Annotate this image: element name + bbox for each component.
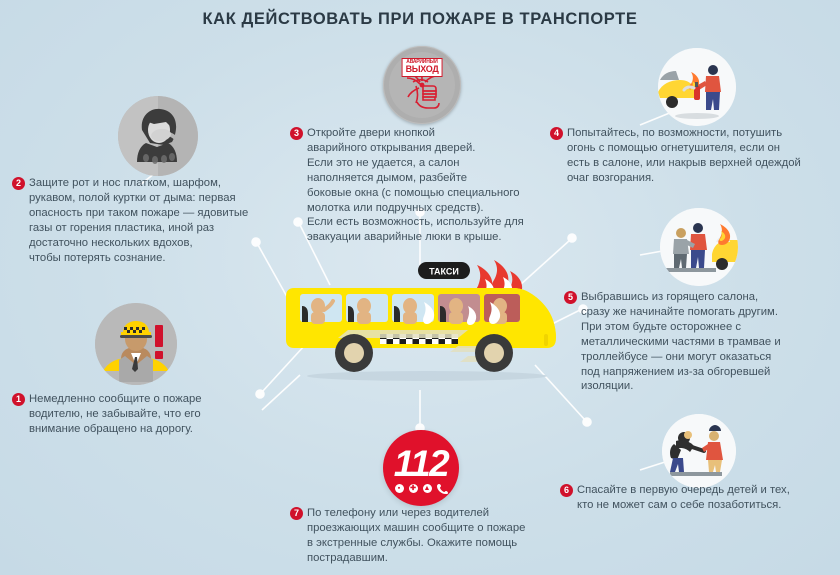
step-text-3: Откройте двери кнопкой аварийного открыв…	[307, 126, 558, 245]
step-text-1: Немедленно сообщите о пожаре водителю, н…	[29, 392, 252, 437]
step-number-5: 5	[564, 291, 577, 304]
emergency-service-icons: ▪ ✚ ▲	[395, 483, 448, 494]
step-block-2: 2 Защите рот и нос платком, шарфом, рука…	[12, 176, 262, 265]
step-block-1: 1 Немедленно сообщите о пожаре водителю,…	[12, 392, 252, 437]
step-number-4: 4	[550, 127, 563, 140]
emergency-number-value: 112	[394, 446, 449, 481]
emergency-exit-button-illustration: АВАРИЙНЫЙ ВЫХОД	[383, 46, 461, 124]
taxi-driver-warning-illustration	[95, 303, 177, 385]
infographic-poster: КАК ДЕЙСТВОВАТЬ ПРИ ПОЖАРЕ В ТРАНСПОРТЕ	[0, 0, 840, 575]
step-text-7: По телефону или через водителей проезжаю…	[307, 506, 562, 566]
rescuing-child-illustration	[662, 414, 736, 488]
burning-taxi-minibus-illustration: ТАКСИ	[282, 250, 577, 400]
helping-people-escape-illustration	[660, 208, 738, 286]
step-block-4: 4 Попытайтесь, по возможности, потушить …	[550, 126, 836, 186]
emergency-exit-label: АВАРИЙНЫЙ ВЫХОД	[402, 58, 443, 77]
step-number-1: 1	[12, 393, 25, 406]
step-block-5: 5 Выбравшись из горящего салона, сразу ж…	[564, 290, 836, 394]
step-text-6: Спасайте в первую очередь детей и тех, к…	[577, 483, 836, 513]
taxi-sign-text: ТАКСИ	[429, 267, 459, 277]
step-number-7: 7	[290, 507, 303, 520]
taxi-roof-sign: ТАКСИ	[418, 262, 470, 279]
woman-covering-mouth-illustration	[118, 96, 198, 176]
step-number-6: 6	[560, 484, 573, 497]
step-block-7: 7 По телефону или через водителей проезж…	[290, 506, 562, 566]
fire-icon: ▲	[423, 484, 432, 493]
step-number-2: 2	[12, 177, 25, 190]
step-text-2: Защите рот и нос платком, шарфом, рукаво…	[29, 176, 262, 265]
step-text-4: Попытайтесь, по возможности, потушить ог…	[567, 126, 836, 186]
step-number-3: 3	[290, 127, 303, 140]
police-icon: ▪	[395, 484, 404, 493]
fire-extinguisher-car-illustration	[658, 48, 736, 126]
medical-icon: ✚	[409, 484, 418, 493]
step-block-3: 3 Откройте двери кнопкой аварийного откр…	[290, 126, 558, 245]
step-block-6: 6 Спасайте в первую очередь детей и тех,…	[560, 483, 836, 513]
step-text-5: Выбравшись из горящего салона, сразу же …	[581, 290, 836, 394]
emergency-number-badge: 112 ▪ ✚ ▲	[383, 430, 459, 506]
page-title: КАК ДЕЙСТВОВАТЬ ПРИ ПОЖАРЕ В ТРАНСПОРТЕ	[0, 10, 840, 29]
phone-icon	[437, 483, 448, 494]
